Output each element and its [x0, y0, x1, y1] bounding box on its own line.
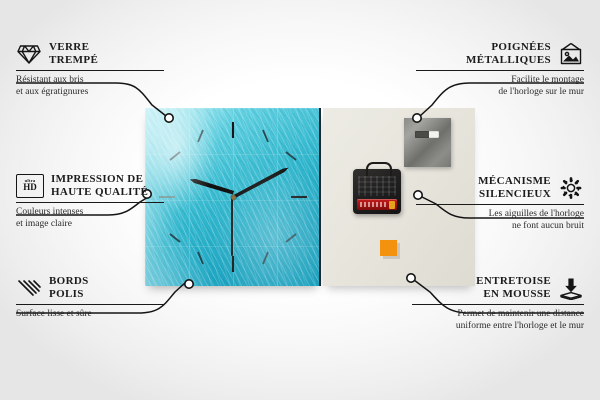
- callout-title-line1: VERRE: [49, 41, 98, 54]
- polished-edges-icon: [16, 276, 42, 300]
- battery-terminal: [389, 201, 395, 209]
- callout-title-line2: HAUTE QUALITÉ: [51, 186, 148, 199]
- foam-spacer: [380, 240, 397, 256]
- callout-title-line2: TREMPÉ: [49, 54, 98, 67]
- callout-sub-line2: ne font aucun bruit: [416, 221, 584, 233]
- callout-rule: [416, 204, 584, 205]
- callout-title-line2: SILENCIEUX: [478, 188, 551, 201]
- callout-rule: [416, 70, 584, 71]
- callout-sub-line1: Les aiguilles de l'horloge: [416, 209, 584, 221]
- callout-title-line1: BORDS: [49, 275, 89, 288]
- clock-center-cap: [231, 195, 236, 200]
- callout-title-line2: EN MOUSSE: [476, 288, 551, 301]
- callout-verre-trempe: VERRE TREMPÉ Résistant aux bris et aux é…: [16, 41, 164, 98]
- callout-title-line1: MÉCANISME: [478, 175, 551, 188]
- metal-hanger-bracket: [404, 118, 451, 167]
- callout-impression-haute-qualite: ultra HD IMPRESSION DE HAUTE QUALITÉ Cou…: [16, 173, 164, 230]
- picture-hanger-icon: [558, 42, 584, 66]
- mechanism-hanging-loop: [366, 162, 392, 176]
- callout-title-line1: IMPRESSION DE: [51, 173, 148, 186]
- callout-sub-line2: uniforme entre l'horloge et le mur: [412, 321, 584, 333]
- callout-rule: [412, 304, 584, 305]
- callout-mecanisme-silencieux: MÉCANISME SILENCIEUX Les aiguilles de l'…: [416, 175, 584, 232]
- callout-title-line2: POLIS: [49, 288, 89, 301]
- battery: [357, 199, 397, 210]
- callout-poignees-metalliques: POIGNÉES MÉTALLIQUES Facilite le montage…: [416, 41, 584, 98]
- callout-rule: [16, 304, 164, 305]
- callout-title-line2: MÉTALLIQUES: [466, 54, 551, 67]
- callout-sub-line2: et aux égratignures: [16, 87, 164, 99]
- callout-sub-line1: Résistant aux bris: [16, 75, 164, 87]
- ultra-hd-icon: ultra HD: [16, 174, 44, 198]
- mechanism-texture: [358, 176, 396, 196]
- callout-rule: [16, 70, 164, 71]
- callout-sub-line1: Permet de maintenir une distance: [412, 309, 584, 321]
- clock-front-panel: [145, 108, 321, 286]
- callout-rule: [16, 202, 164, 203]
- callout-sub-line2: et image claire: [16, 219, 164, 231]
- diamond-icon: [16, 42, 42, 66]
- callout-bords-polis: BORDS POLIS Surface lisse et sûre: [16, 275, 164, 321]
- callout-title-line1: POIGNÉES: [466, 41, 551, 54]
- gear-icon: [558, 176, 584, 200]
- spacer-arrow-icon: [558, 276, 584, 300]
- clock-mechanism-box: [353, 169, 401, 214]
- infographic-canvas: VERRE TREMPÉ Résistant aux bris et aux é…: [0, 0, 600, 400]
- callout-sub-line1: Facilite le montage: [416, 75, 584, 87]
- callout-entretoise-en-mousse: ENTRETOISE EN MOUSSE Permet de maintenir…: [412, 275, 584, 332]
- battery-label: [360, 202, 386, 207]
- callout-title-line1: ENTRETOISE: [476, 275, 551, 288]
- callout-sub-line1: Couleurs intenses: [16, 207, 164, 219]
- hanger-slot: [415, 131, 439, 138]
- callout-sub-line1: Surface lisse et sûre: [16, 309, 164, 321]
- second-hand: [232, 196, 234, 256]
- ultra-hd-icon-bottom: HD: [23, 183, 37, 193]
- callout-sub-line2: de l'horloge sur le mur: [416, 87, 584, 99]
